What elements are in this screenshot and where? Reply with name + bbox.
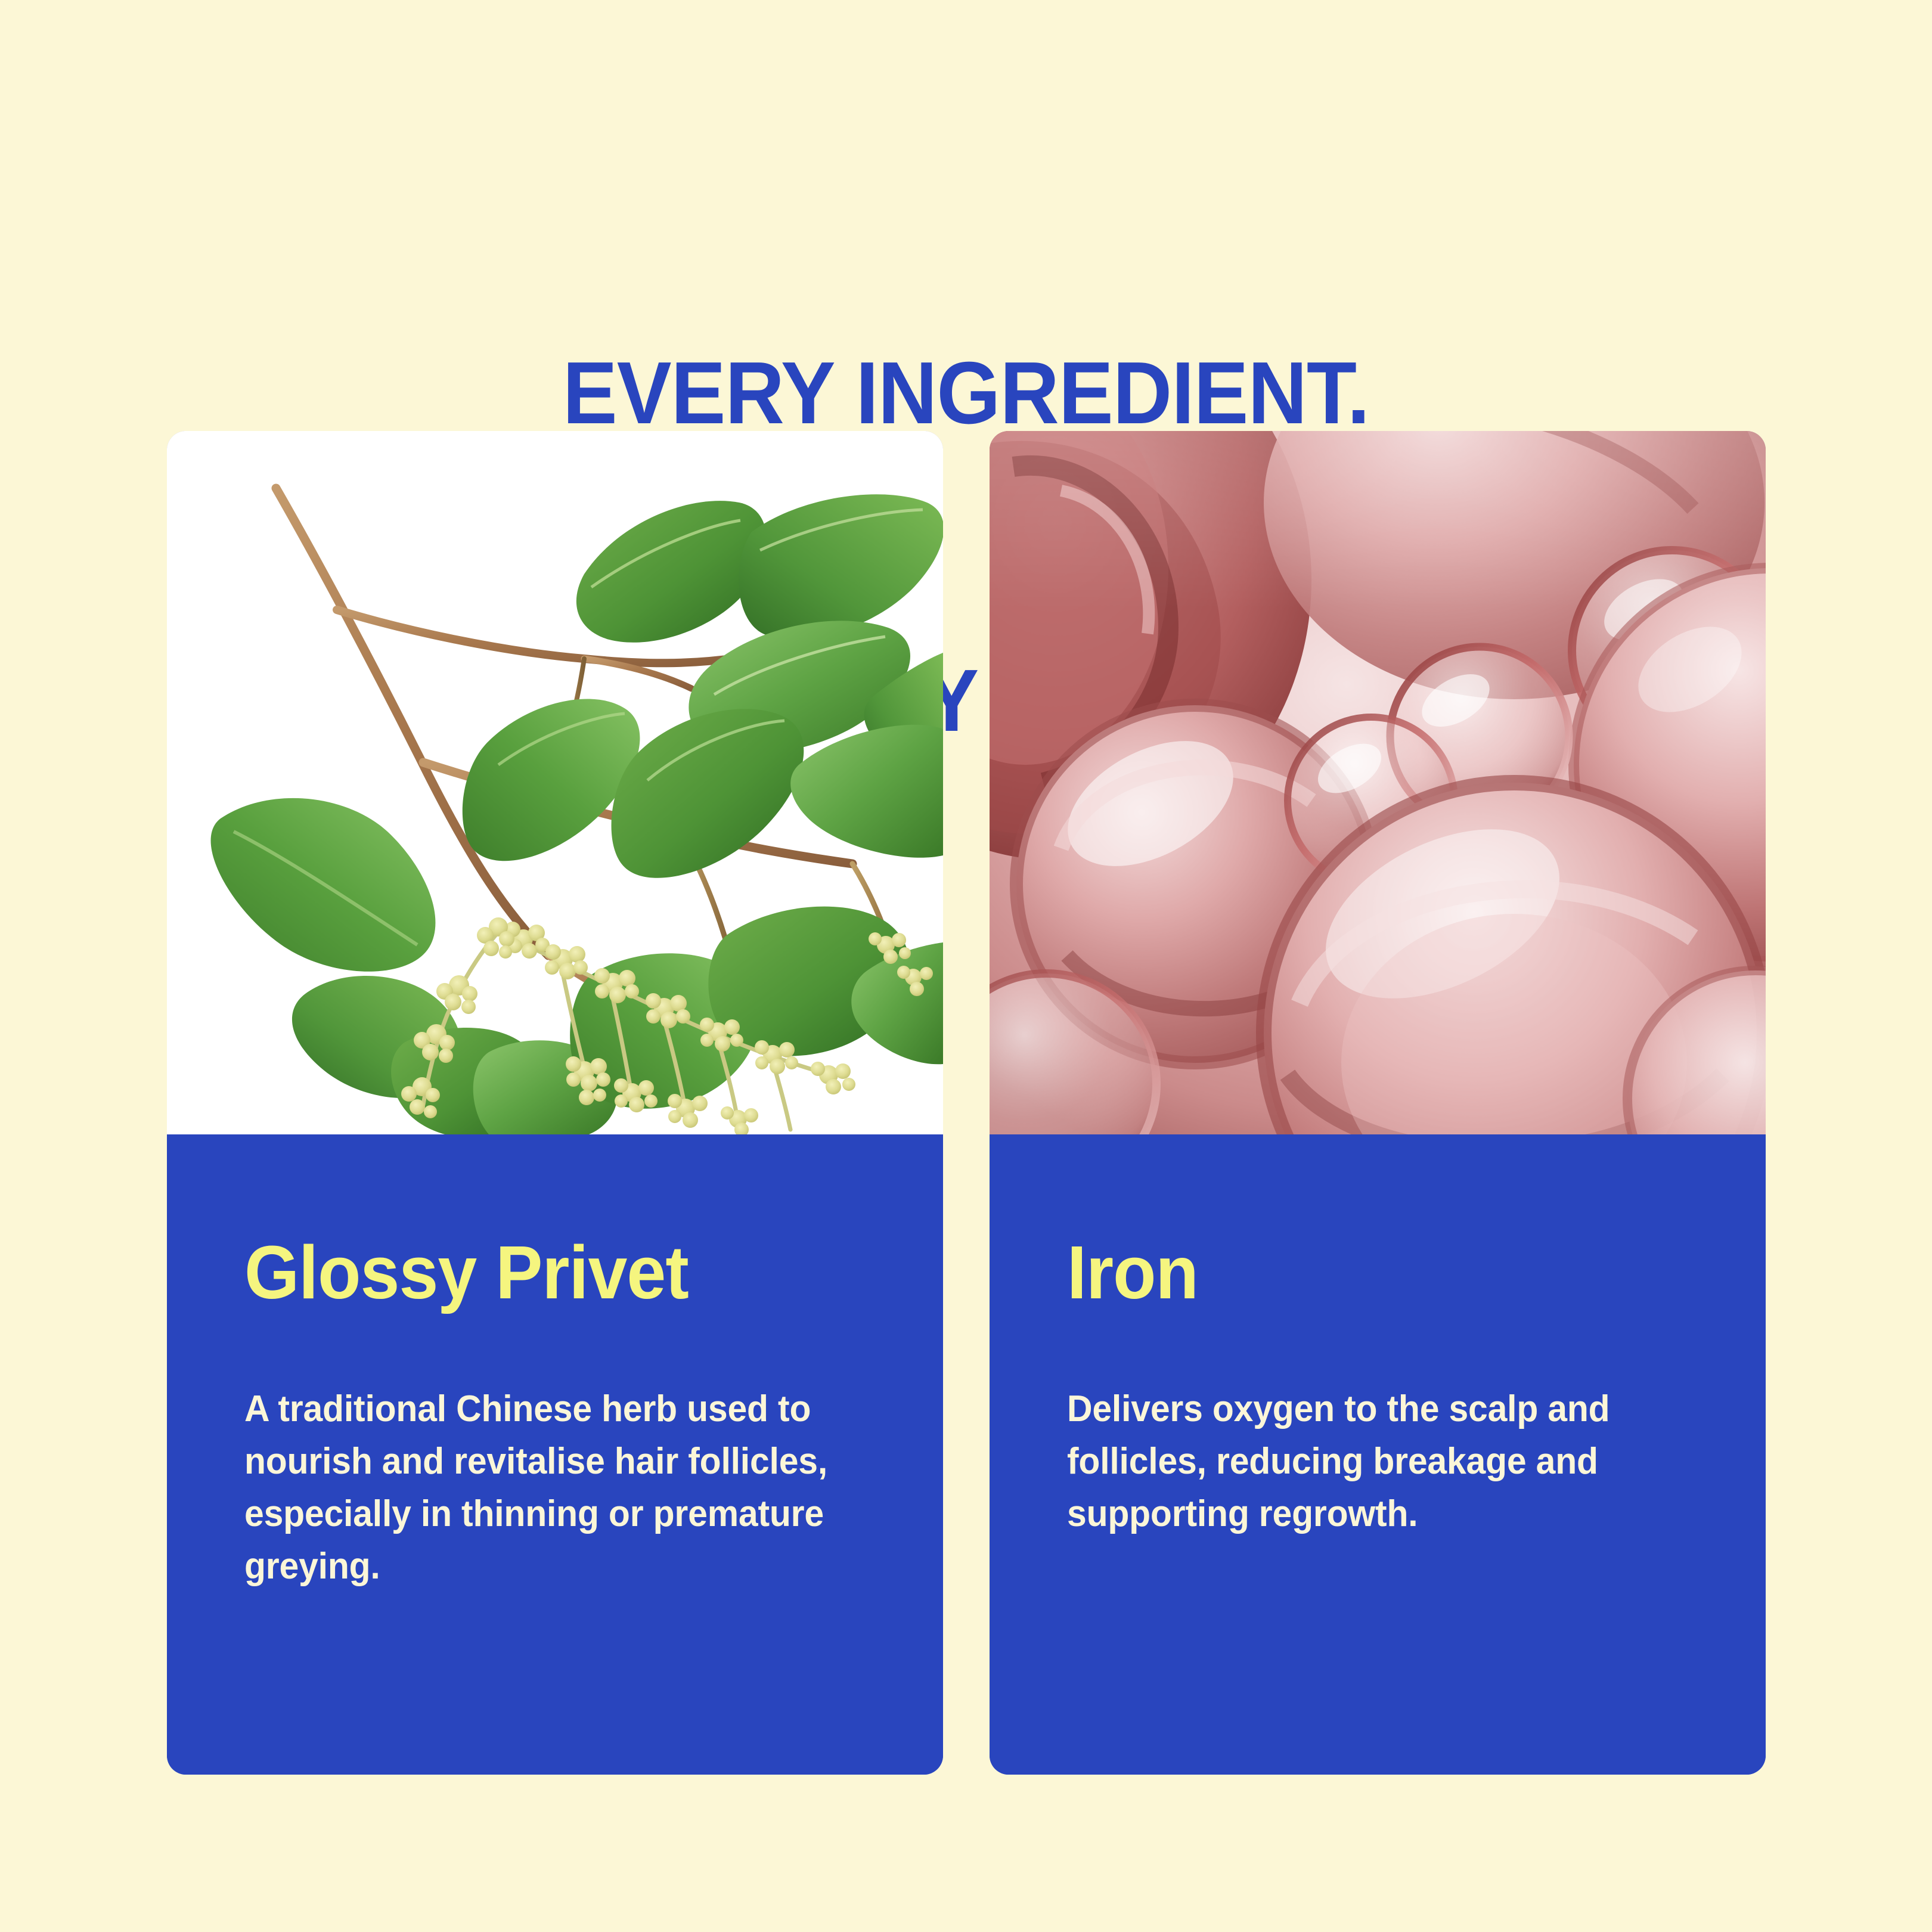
card-description-glossy-privet: A traditional Chinese herb used to nouri…: [244, 1383, 836, 1593]
card-description-iron: Delivers oxygen to the scalp and follicl…: [1067, 1383, 1658, 1540]
card-title-glossy-privet: Glossy Privet: [244, 1235, 829, 1310]
headline-line-1: EVERY INGREDIENT.: [67, 342, 1864, 445]
card-title-iron: Iron: [1067, 1235, 1652, 1310]
red-bubbles-illustration: [990, 431, 1766, 1134]
infographic-page: EVERY INGREDIENT. BACKED BY EVIDENCE.: [0, 0, 1932, 1932]
bubbles-photo: [990, 431, 1766, 1134]
ingredient-card-iron[interactable]: Iron Delivers oxygen to the scalp and fo…: [990, 431, 1766, 1775]
glossy-privet-illustration: [167, 431, 943, 1134]
card-body-glossy-privet: Glossy Privet A traditional Chinese herb…: [167, 1134, 943, 1775]
ingredient-card-glossy-privet[interactable]: Glossy Privet A traditional Chinese herb…: [167, 431, 943, 1775]
plant-photo: [167, 431, 943, 1134]
card-image-glossy-privet: [167, 431, 943, 1134]
card-image-iron: [990, 431, 1766, 1134]
card-body-iron: Iron Delivers oxygen to the scalp and fo…: [990, 1134, 1766, 1775]
